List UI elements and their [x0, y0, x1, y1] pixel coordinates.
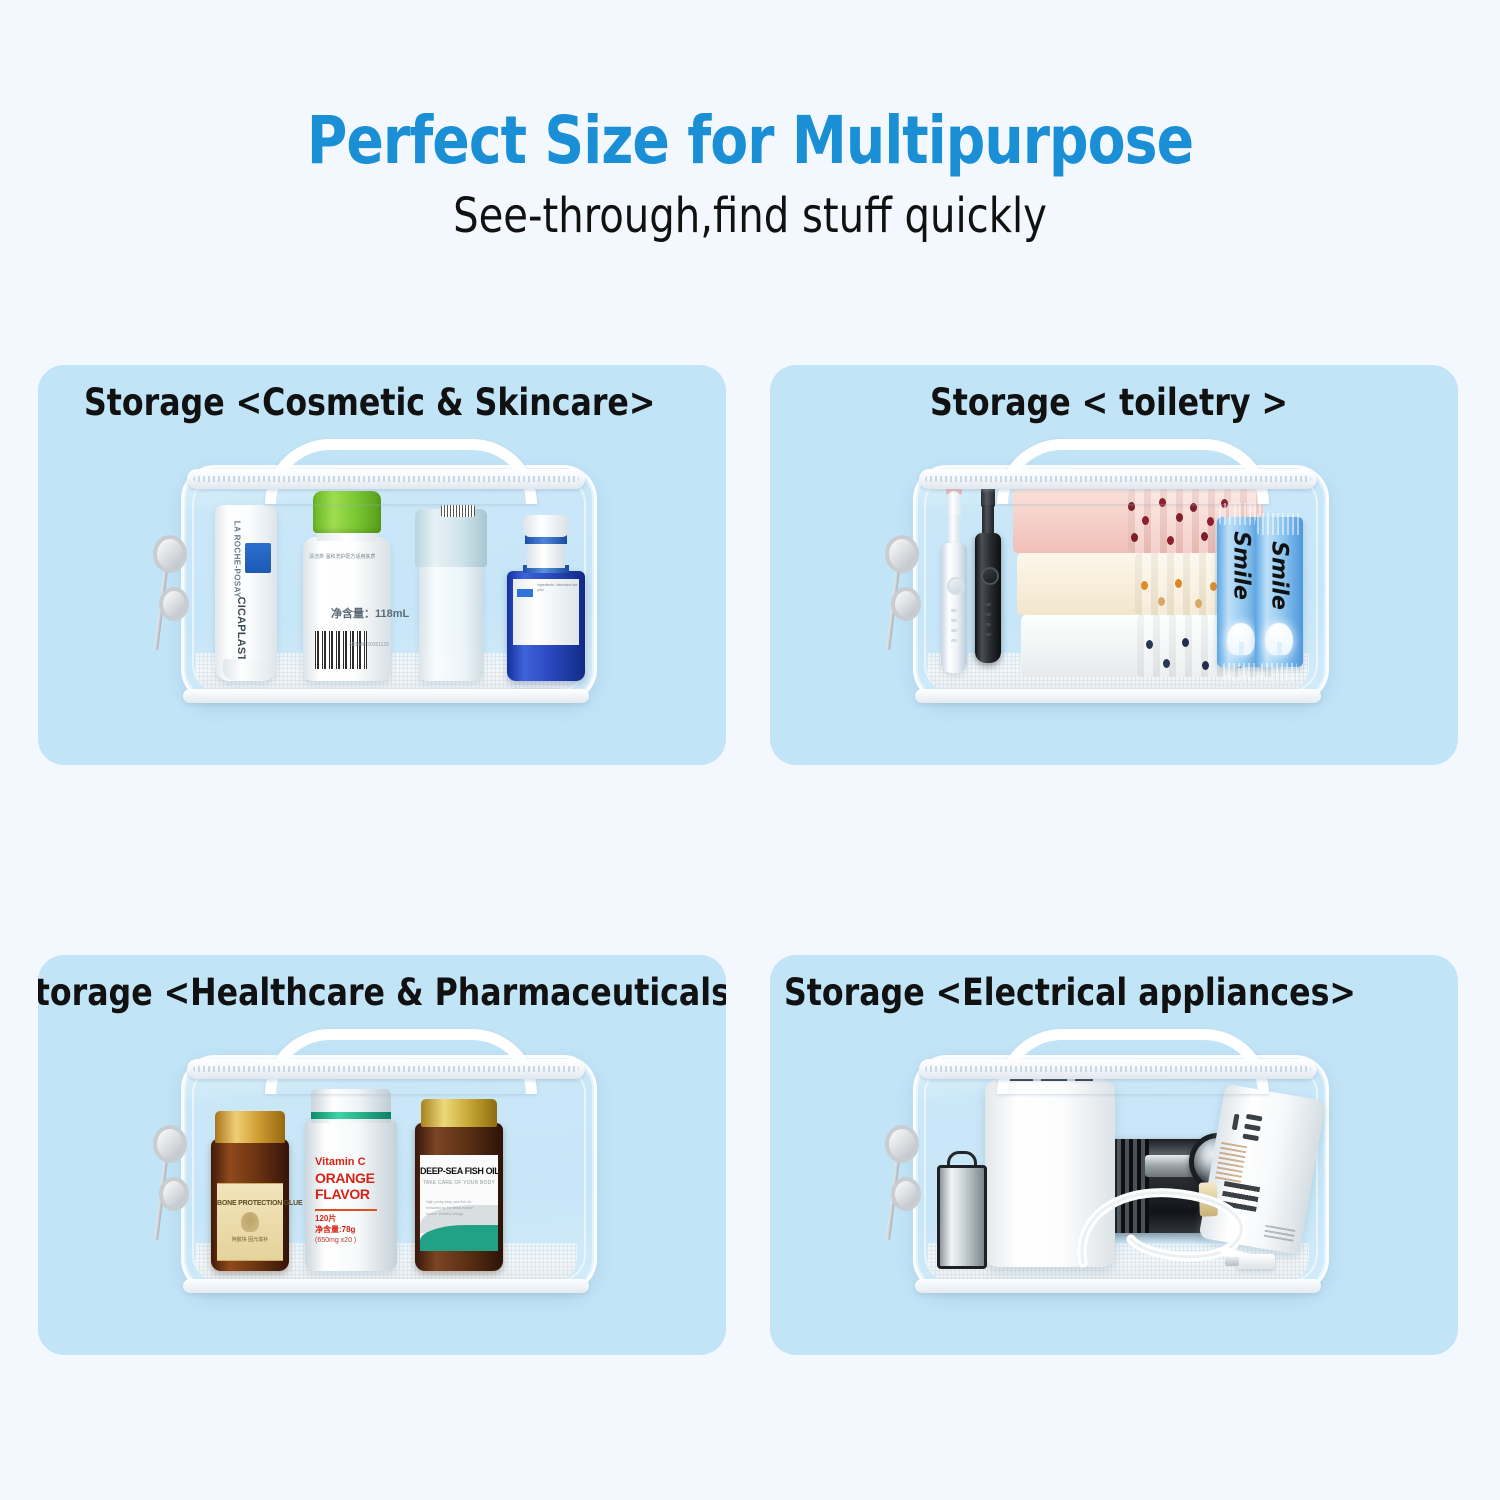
item-serum-pump-bottle: Ingredients / directions fine print: [507, 515, 585, 681]
barcode-icon: [315, 631, 367, 669]
bone-jar-title: BONE PROTECTION GLUE: [217, 1200, 283, 1208]
panel-toiletry: Storage < toiletry >: [770, 365, 1458, 765]
panel-healthcare-pharmaceuticals: Storage <Healthcare & Pharmaceuticals> B…: [38, 955, 726, 1355]
bag-contents-toiletry: Smile Smile: [925, 485, 1311, 681]
item-toner-bottle: [415, 509, 487, 681]
panel-cosmetic-skincare: Storage <Cosmetic & Skincare> LA ROCHE-P…: [38, 365, 726, 765]
item-vitamin-c-jar: Vitamin C ORANGE FLAVOR 120片 净含量:78g (65…: [305, 1089, 397, 1271]
vitc-dose: (650mg x20 ): [315, 1237, 393, 1245]
price-tag-icon: [441, 505, 475, 517]
bone-jar-subtitle: 阿胶块 固元滋补: [217, 1238, 283, 1243]
vitc-line2: ORANGE: [315, 1171, 393, 1186]
page-title: Perfect Size for Multipurpose: [53, 108, 1448, 174]
vitc-line3: FLAVOR: [315, 1187, 393, 1202]
bag-zipper: [187, 1059, 585, 1079]
vitc-divider: [315, 1209, 377, 1211]
vitc-count: 120片: [315, 1215, 393, 1224]
tooth-icon: [1265, 623, 1293, 655]
herb-glyph-icon: [241, 1212, 259, 1232]
tube-blue-block: [245, 543, 271, 573]
tube-product-text: CICAPLAST: [234, 588, 246, 670]
zipper-pull-icon: [877, 535, 923, 655]
item-usb-flash-drive: [937, 1151, 981, 1263]
lotion-volume-text: 净含量：118mL: [331, 609, 389, 621]
zipper-pull-icon: [145, 535, 191, 655]
bag-bottom-trim: [183, 689, 589, 703]
header: Perfect Size for Multipurpose See-throug…: [0, 0, 1500, 300]
tooth-icon: [1227, 623, 1255, 655]
zipper-pull-icon: [145, 1125, 191, 1245]
clear-storage-bag: Smile Smile: [865, 443, 1365, 711]
panel-label-toiletry: Storage < toiletry >: [930, 383, 1288, 424]
bag-bottom-trim: [915, 1279, 1321, 1293]
bag-zipper: [919, 469, 1317, 489]
lotion-cn-text: 清洁类 温和洗护配方适用肤质: [309, 555, 385, 560]
bag-bottom-trim: [183, 1279, 589, 1293]
bag-bottom-trim: [915, 689, 1321, 703]
clear-storage-bag: BONE PROTECTION GLUE 阿胶块 固元滋补 Vitamin C …: [133, 1033, 633, 1301]
panel-label-cosmetic: Storage <Cosmetic & Skincare>: [84, 383, 655, 424]
pump-head: [523, 515, 569, 537]
item-bone-supplement-jar: BONE PROTECTION GLUE 阿胶块 固元滋补: [211, 1111, 289, 1271]
page-subtitle: See-through,find stuff quickly: [53, 192, 1448, 240]
item-fish-oil-jar: DEEP-SEA FISH OIL TAKE CARE OF YOUR BODY…: [415, 1099, 503, 1271]
vitc-line1: Vitamin C: [315, 1157, 393, 1169]
bag-contents-cosmetic: LA ROCHE-POSAY CICAPLAST 清洁类 温和洗护配方适用肤质 …: [193, 485, 579, 681]
fishoil-body-text: High-purity deep-sea fish oil, extracted…: [426, 1199, 476, 1217]
item-lotion-bottle: 清洁类 温和洗护配方适用肤质 净含量：118mL 393648 20261129: [301, 491, 393, 681]
bag-zipper: [187, 469, 585, 489]
panel-label-electric: Storage <Electrical appliances>: [784, 973, 1356, 1014]
toothpaste-brand-2: Smile: [1267, 526, 1292, 626]
clear-storage-bag: [865, 1033, 1365, 1301]
item-electric-toothbrush-black: [975, 481, 1001, 677]
vitc-net-weight: 净含量:78g: [315, 1226, 393, 1235]
usb-plug-icon: [1237, 1254, 1275, 1269]
item-electric-toothbrush-white: [941, 491, 967, 677]
lotion-lot-text: 393648 20261129: [349, 643, 393, 648]
toothpaste-brand-1: Smile: [1229, 516, 1254, 616]
bag-contents-health: BONE PROTECTION GLUE 阿胶块 固元滋补 Vitamin C …: [193, 1075, 579, 1271]
bag-contents-electric: [925, 1075, 1311, 1271]
bag-zipper: [919, 1059, 1317, 1079]
panel-label-health: Storage <Healthcare & Pharmaceuticals>: [38, 973, 726, 1014]
fishoil-subtitle: TAKE CARE OF YOUR BODY: [420, 1181, 498, 1186]
item-skincare-tube: LA ROCHE-POSAY CICAPLAST: [215, 505, 277, 681]
fishoil-title: DEEP-SEA FISH OIL: [420, 1167, 498, 1177]
zipper-pull-icon: [877, 1125, 923, 1245]
panel-electrical-appliances: Storage <Electrical appliances>: [770, 955, 1458, 1355]
item-toothpaste-tube-2: Smile: [1255, 513, 1303, 681]
clear-storage-bag: LA ROCHE-POSAY CICAPLAST 清洁类 温和洗护配方适用肤质 …: [133, 443, 633, 711]
item-usb-charging-cable: [1075, 1179, 1285, 1271]
serum-label-text: Ingredients / directions fine print: [537, 583, 581, 593]
